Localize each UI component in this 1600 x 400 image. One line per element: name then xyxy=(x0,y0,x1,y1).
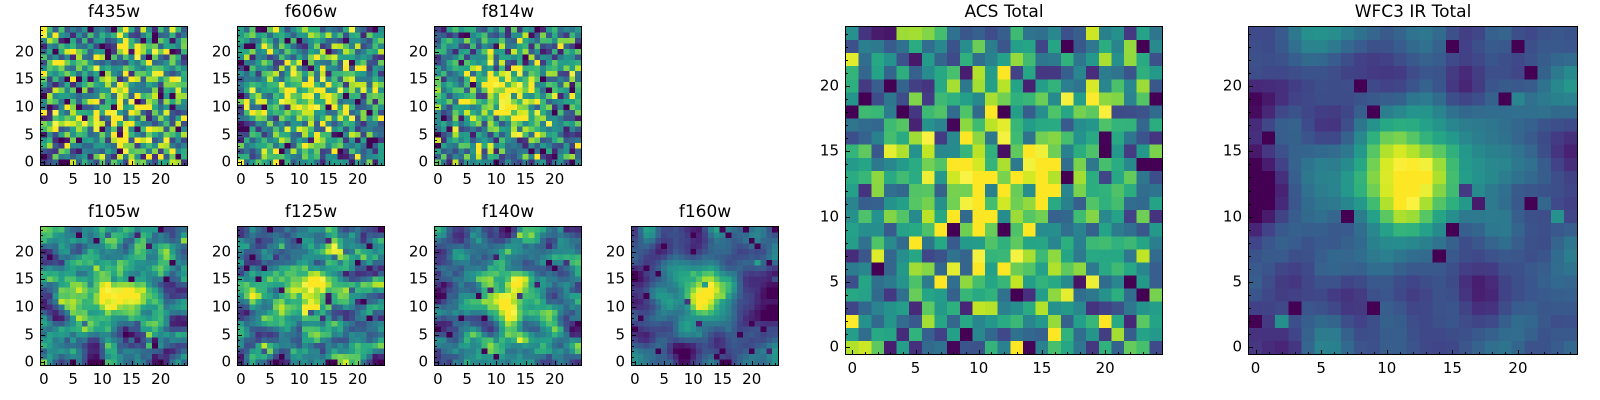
panel-title-f160w: f160w xyxy=(631,204,779,221)
x-major-tick xyxy=(496,161,497,165)
x-minor-tick xyxy=(758,363,759,365)
x-major-tick xyxy=(1105,350,1106,354)
x-minor-tick xyxy=(317,163,318,165)
y-minor-tick xyxy=(632,257,634,258)
y-minor-tick xyxy=(238,90,240,91)
y-minor-tick xyxy=(632,235,634,236)
y-major-tick xyxy=(41,52,45,53)
x-minor-tick xyxy=(658,363,659,365)
y-minor-tick xyxy=(238,340,240,341)
x-minor-tick xyxy=(381,363,382,365)
y-major-tick xyxy=(846,347,850,348)
stamp-panel-f125w: f125w0055101015152020 xyxy=(237,202,385,392)
y-minor-tick xyxy=(41,324,43,325)
x-minor-tick xyxy=(61,363,62,365)
x-tick-label: 15 xyxy=(713,372,732,387)
x-minor-tick xyxy=(450,363,451,365)
y-tick-label: 20 xyxy=(409,44,428,59)
x-minor-tick xyxy=(253,363,254,365)
x-minor-tick xyxy=(444,163,445,165)
x-minor-tick xyxy=(167,163,168,165)
x-minor-tick xyxy=(941,352,942,354)
x-minor-tick xyxy=(444,363,445,365)
y-minor-tick xyxy=(435,118,437,119)
x-tick-label: 15 xyxy=(319,372,338,387)
x-minor-tick xyxy=(461,163,462,165)
x-tick-label: 0 xyxy=(236,372,246,387)
y-minor-tick xyxy=(238,129,240,130)
x-minor-tick xyxy=(490,163,491,165)
y-tick-label: 0 xyxy=(24,155,34,170)
x-minor-tick xyxy=(50,163,51,165)
x-minor-tick xyxy=(508,363,509,365)
y-minor-tick xyxy=(1249,204,1251,205)
stamp-panel-f140w: f140w0055101015152020 xyxy=(434,202,582,392)
y-minor-tick xyxy=(1249,321,1251,322)
x-minor-tick xyxy=(352,363,353,365)
x-minor-tick xyxy=(769,363,770,365)
y-minor-tick xyxy=(846,164,848,165)
x-tick-label: 5 xyxy=(659,372,669,387)
x-major-tick xyxy=(693,361,694,365)
x-minor-tick xyxy=(340,163,341,165)
x-tick-label: 5 xyxy=(265,172,275,187)
y-tick-label: 15 xyxy=(409,272,428,287)
y-tick-label: 0 xyxy=(1232,340,1242,355)
x-minor-tick xyxy=(455,163,456,165)
x-minor-tick xyxy=(1479,352,1480,354)
x-minor-tick xyxy=(1130,352,1131,354)
x-minor-tick xyxy=(641,363,642,365)
y-minor-tick xyxy=(632,290,634,291)
x-minor-tick xyxy=(682,363,683,365)
y-minor-tick xyxy=(632,318,634,319)
x-major-tick xyxy=(526,161,527,165)
y-major-tick xyxy=(632,279,636,280)
y-minor-tick xyxy=(238,35,240,36)
x-minor-tick xyxy=(890,352,891,354)
y-minor-tick xyxy=(435,63,437,64)
y-tick-label: 0 xyxy=(221,355,231,370)
x-tick-label: 20 xyxy=(545,172,564,187)
y-tick-label: 5 xyxy=(221,127,231,142)
y-minor-tick xyxy=(435,102,437,103)
x-major-tick xyxy=(299,361,300,365)
x-tick-label: 10 xyxy=(93,172,112,187)
y-minor-tick xyxy=(435,313,437,314)
y-tick-label: 10 xyxy=(15,300,34,315)
x-minor-tick xyxy=(79,363,80,365)
y-minor-tick xyxy=(846,34,848,35)
y-minor-tick xyxy=(1249,191,1251,192)
y-minor-tick xyxy=(435,151,437,152)
y-major-tick xyxy=(238,162,242,163)
x-minor-tick xyxy=(687,363,688,365)
x-minor-tick xyxy=(520,163,521,165)
stamp-image-f125w xyxy=(237,226,385,366)
y-minor-tick xyxy=(632,351,634,352)
y-major-tick xyxy=(238,307,242,308)
y-minor-tick xyxy=(846,138,848,139)
y-minor-tick xyxy=(435,96,437,97)
y-tick-label: 15 xyxy=(212,72,231,87)
x-minor-tick xyxy=(991,352,992,354)
x-minor-tick xyxy=(369,363,370,365)
x-minor-tick xyxy=(572,163,573,165)
x-major-tick xyxy=(1321,350,1322,354)
stamp-canvas-f814w xyxy=(435,27,581,165)
y-minor-tick xyxy=(632,263,634,264)
y-tick-label: 10 xyxy=(409,100,428,115)
y-minor-tick xyxy=(238,246,240,247)
x-minor-tick xyxy=(514,363,515,365)
y-minor-tick xyxy=(41,85,43,86)
x-minor-tick xyxy=(264,363,265,365)
x-major-tick xyxy=(664,361,665,365)
y-tick-label: 0 xyxy=(24,355,34,370)
x-tick-label: 10 xyxy=(487,372,506,387)
x-major-tick xyxy=(555,361,556,365)
y-minor-tick xyxy=(435,268,437,269)
stamp-canvas-f105w xyxy=(41,227,187,365)
x-minor-tick xyxy=(178,363,179,365)
stamp-canvas-f435w xyxy=(41,27,187,165)
y-minor-tick xyxy=(435,241,437,242)
x-minor-tick xyxy=(1004,352,1005,354)
y-minor-tick xyxy=(238,351,240,352)
x-minor-tick xyxy=(340,363,341,365)
x-minor-tick xyxy=(1118,352,1119,354)
x-tick-label: 0 xyxy=(630,372,640,387)
y-minor-tick xyxy=(846,269,848,270)
y-minor-tick xyxy=(238,124,240,125)
y-minor-tick xyxy=(1249,164,1251,165)
y-major-tick xyxy=(1249,347,1253,348)
x-tick-label: 20 xyxy=(1096,361,1115,376)
x-major-tick xyxy=(102,161,103,165)
x-minor-tick xyxy=(143,163,144,165)
y-major-tick xyxy=(435,279,439,280)
panel-title-wfc3-ir-total: WFC3 IR Total xyxy=(1248,4,1578,21)
x-minor-tick xyxy=(531,163,532,165)
x-minor-tick xyxy=(334,163,335,165)
y-minor-tick xyxy=(41,151,43,152)
x-minor-tick xyxy=(346,163,347,165)
x-minor-tick xyxy=(490,363,491,365)
y-minor-tick xyxy=(632,230,634,231)
x-tick-label: 5 xyxy=(68,372,78,387)
x-minor-tick xyxy=(137,163,138,165)
y-minor-tick xyxy=(41,90,43,91)
x-minor-tick xyxy=(96,163,97,165)
x-minor-tick xyxy=(652,363,653,365)
y-minor-tick xyxy=(632,246,634,247)
x-minor-tick xyxy=(473,163,474,165)
y-minor-tick xyxy=(41,246,43,247)
stamp-image-f814w xyxy=(434,26,582,166)
x-tick-label: 20 xyxy=(348,172,367,187)
x-minor-tick xyxy=(155,163,156,165)
x-minor-tick xyxy=(1017,352,1018,354)
x-minor-tick xyxy=(305,363,306,365)
x-major-tick xyxy=(132,361,133,365)
x-major-tick xyxy=(73,361,74,365)
y-tick-label: 5 xyxy=(1232,275,1242,290)
x-minor-tick xyxy=(1544,352,1545,354)
x-minor-tick xyxy=(91,163,92,165)
y-minor-tick xyxy=(435,57,437,58)
y-minor-tick xyxy=(238,113,240,114)
x-minor-tick xyxy=(167,363,168,365)
x-minor-tick xyxy=(184,363,185,365)
y-major-tick xyxy=(632,307,636,308)
x-minor-tick xyxy=(258,363,259,365)
x-minor-tick xyxy=(903,352,904,354)
x-minor-tick xyxy=(282,363,283,365)
x-tick-label: 5 xyxy=(68,172,78,187)
x-minor-tick xyxy=(1080,352,1081,354)
x-minor-tick xyxy=(1570,352,1571,354)
x-major-tick xyxy=(723,361,724,365)
y-minor-tick xyxy=(41,63,43,64)
x-minor-tick xyxy=(85,163,86,165)
y-minor-tick xyxy=(238,313,240,314)
y-major-tick xyxy=(41,162,45,163)
y-minor-tick xyxy=(846,295,848,296)
x-minor-tick xyxy=(155,363,156,365)
y-minor-tick xyxy=(435,90,437,91)
x-minor-tick xyxy=(740,363,741,365)
y-minor-tick xyxy=(238,318,240,319)
y-major-tick xyxy=(238,252,242,253)
y-minor-tick xyxy=(238,290,240,291)
x-minor-tick xyxy=(746,363,747,365)
y-major-tick xyxy=(1249,151,1253,152)
y-major-tick xyxy=(435,79,439,80)
y-minor-tick xyxy=(632,302,634,303)
y-minor-tick xyxy=(632,329,634,330)
y-minor-tick xyxy=(238,102,240,103)
y-minor-tick xyxy=(846,243,848,244)
x-minor-tick xyxy=(346,363,347,365)
y-tick-label: 5 xyxy=(829,275,839,290)
y-minor-tick xyxy=(238,329,240,330)
x-minor-tick xyxy=(317,363,318,365)
y-minor-tick xyxy=(41,46,43,47)
y-major-tick xyxy=(41,362,45,363)
y-minor-tick xyxy=(435,357,437,358)
y-tick-label: 20 xyxy=(820,78,839,93)
y-tick-label: 0 xyxy=(418,155,428,170)
x-minor-tick xyxy=(56,163,57,165)
x-minor-tick xyxy=(143,363,144,365)
x-major-tick xyxy=(752,361,753,365)
x-minor-tick xyxy=(699,363,700,365)
x-minor-tick xyxy=(1374,352,1375,354)
x-minor-tick xyxy=(56,363,57,365)
x-major-tick xyxy=(329,161,330,165)
x-minor-tick xyxy=(966,352,967,354)
y-major-tick xyxy=(632,335,636,336)
x-tick-label: 5 xyxy=(462,372,472,387)
y-minor-tick xyxy=(238,302,240,303)
y-tick-label: 20 xyxy=(15,44,34,59)
x-minor-tick xyxy=(878,352,879,354)
y-minor-tick xyxy=(435,124,437,125)
y-tick-label: 5 xyxy=(221,327,231,342)
y-minor-tick xyxy=(41,57,43,58)
y-minor-tick xyxy=(435,157,437,158)
y-tick-label: 15 xyxy=(15,272,34,287)
y-tick-label: 10 xyxy=(212,300,231,315)
x-minor-tick xyxy=(578,163,579,165)
x-major-tick xyxy=(102,361,103,365)
y-minor-tick xyxy=(41,268,43,269)
x-tick-label: 15 xyxy=(1032,361,1051,376)
x-minor-tick xyxy=(1055,352,1056,354)
y-major-tick xyxy=(238,279,242,280)
x-minor-tick xyxy=(172,363,173,365)
y-minor-tick xyxy=(1249,73,1251,74)
x-minor-tick xyxy=(717,363,718,365)
x-minor-tick xyxy=(865,352,866,354)
y-minor-tick xyxy=(1249,295,1251,296)
x-minor-tick xyxy=(670,363,671,365)
panel-title-f435w: f435w xyxy=(40,4,188,21)
y-major-tick xyxy=(435,307,439,308)
panel-title-acs-total: ACS Total xyxy=(845,4,1163,21)
y-minor-tick xyxy=(41,346,43,347)
y-minor-tick xyxy=(41,74,43,75)
x-minor-tick xyxy=(120,363,121,365)
y-minor-tick xyxy=(1249,308,1251,309)
x-minor-tick xyxy=(120,163,121,165)
y-major-tick xyxy=(238,135,242,136)
stamp-canvas-f125w xyxy=(238,227,384,365)
x-minor-tick xyxy=(473,363,474,365)
x-minor-tick xyxy=(334,363,335,365)
stamp-panel-acs-total: ACS Total0055101015152020 xyxy=(845,2,1163,381)
y-minor-tick xyxy=(41,340,43,341)
stamp-panel-f160w: f160w0055101015152020 xyxy=(631,202,779,392)
y-minor-tick xyxy=(238,257,240,258)
x-tick-label: 10 xyxy=(684,372,703,387)
x-major-tick xyxy=(555,161,556,165)
y-minor-tick xyxy=(435,257,437,258)
y-minor-tick xyxy=(41,296,43,297)
y-minor-tick xyxy=(435,146,437,147)
y-minor-tick xyxy=(435,35,437,36)
y-major-tick xyxy=(1249,282,1253,283)
y-minor-tick xyxy=(238,74,240,75)
panel-title-f125w: f125w xyxy=(237,204,385,221)
x-minor-tick xyxy=(1531,352,1532,354)
x-minor-tick xyxy=(258,163,259,165)
stamp-panel-f814w: f814w0055101015152020 xyxy=(434,2,582,192)
y-major-tick xyxy=(846,86,850,87)
y-minor-tick xyxy=(238,324,240,325)
x-minor-tick xyxy=(247,363,248,365)
y-major-tick xyxy=(435,362,439,363)
y-major-tick xyxy=(41,279,45,280)
x-tick-label: 20 xyxy=(545,372,564,387)
x-minor-tick xyxy=(561,363,562,365)
y-minor-tick xyxy=(632,285,634,286)
y-minor-tick xyxy=(632,313,634,314)
y-major-tick xyxy=(41,79,45,80)
x-major-tick xyxy=(1452,350,1453,354)
y-minor-tick xyxy=(632,268,634,269)
y-minor-tick xyxy=(238,85,240,86)
x-tick-label: 5 xyxy=(462,172,472,187)
x-tick-label: 0 xyxy=(848,361,858,376)
y-minor-tick xyxy=(238,263,240,264)
x-major-tick xyxy=(1256,350,1257,354)
x-major-tick xyxy=(467,361,468,365)
x-minor-tick xyxy=(647,363,648,365)
y-minor-tick xyxy=(238,346,240,347)
y-minor-tick xyxy=(41,41,43,42)
y-minor-tick xyxy=(41,285,43,286)
x-tick-label: 0 xyxy=(1251,361,1261,376)
x-tick-label: 10 xyxy=(487,172,506,187)
y-minor-tick xyxy=(238,296,240,297)
y-tick-label: 10 xyxy=(212,100,231,115)
stamp-image-f435w xyxy=(40,26,188,166)
y-minor-tick xyxy=(846,308,848,309)
x-minor-tick xyxy=(126,363,127,365)
y-minor-tick xyxy=(846,191,848,192)
x-minor-tick xyxy=(461,363,462,365)
x-minor-tick xyxy=(282,163,283,165)
x-minor-tick xyxy=(85,363,86,365)
x-minor-tick xyxy=(502,363,503,365)
x-minor-tick xyxy=(572,363,573,365)
x-tick-label: 20 xyxy=(742,372,761,387)
stamp-image-f606w xyxy=(237,26,385,166)
y-minor-tick xyxy=(41,313,43,314)
x-major-tick xyxy=(270,361,271,365)
x-minor-tick xyxy=(276,363,277,365)
y-minor-tick xyxy=(632,340,634,341)
panel-title-f105w: f105w xyxy=(40,204,188,221)
y-tick-label: 15 xyxy=(212,272,231,287)
stamp-canvas-f606w xyxy=(238,27,384,165)
panel-title-f140w: f140w xyxy=(434,204,582,221)
x-major-tick xyxy=(358,161,359,165)
y-minor-tick xyxy=(1249,138,1251,139)
x-minor-tick xyxy=(531,363,532,365)
x-minor-tick xyxy=(1439,352,1440,354)
y-minor-tick xyxy=(41,35,43,36)
y-minor-tick xyxy=(238,63,240,64)
y-minor-tick xyxy=(435,46,437,47)
y-major-tick xyxy=(238,362,242,363)
y-minor-tick xyxy=(238,285,240,286)
stamp-panel-f435w: f435w0055101015152020 xyxy=(40,2,188,192)
x-minor-tick xyxy=(502,163,503,165)
y-tick-label: 20 xyxy=(212,244,231,259)
y-tick-label: 20 xyxy=(1223,78,1242,93)
x-minor-tick xyxy=(311,163,312,165)
y-tick-label: 15 xyxy=(15,72,34,87)
x-tick-label: 5 xyxy=(265,372,275,387)
x-major-tick xyxy=(852,350,853,354)
y-minor-tick xyxy=(1249,99,1251,100)
x-major-tick xyxy=(526,361,527,365)
x-minor-tick xyxy=(1361,352,1362,354)
y-tick-label: 0 xyxy=(829,340,839,355)
